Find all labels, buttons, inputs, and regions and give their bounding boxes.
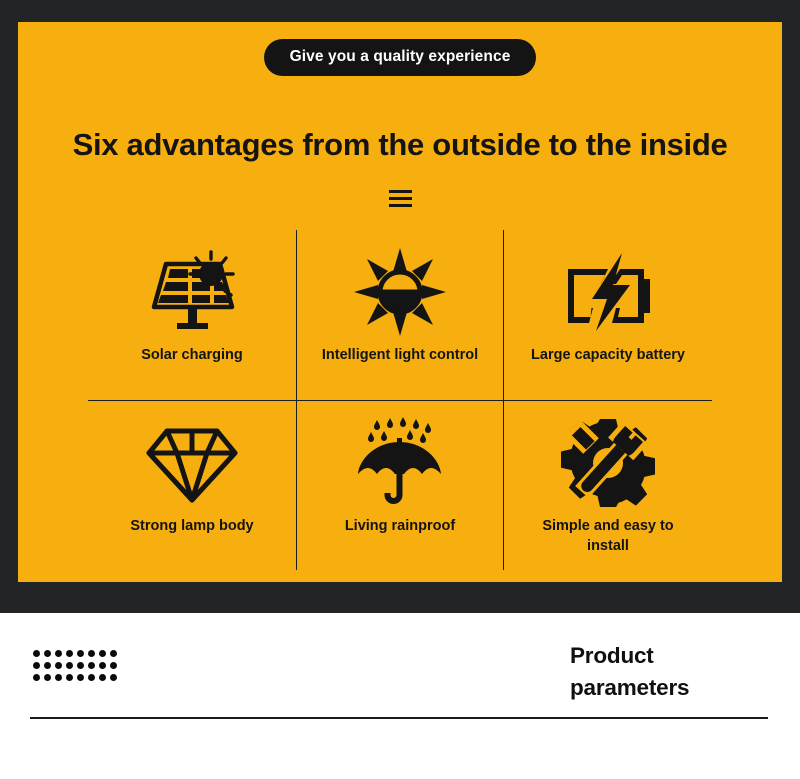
advantages-grid: Solar charging xyxy=(88,230,712,570)
page-title: Six advantages from the outside to the i… xyxy=(18,128,782,162)
dot xyxy=(44,674,51,681)
dot xyxy=(55,674,62,681)
divider-line-3 xyxy=(389,204,412,207)
advantage-label: Large capacity battery xyxy=(531,346,685,366)
page-root: Give you a quality experience Six advant… xyxy=(0,0,800,779)
dot xyxy=(88,674,95,681)
advantage-label: Solar charging xyxy=(141,346,243,366)
section-title-line-1: Product xyxy=(570,640,780,672)
dot xyxy=(33,662,40,669)
advantage-cell-battery: Large capacity battery xyxy=(504,230,712,400)
dot xyxy=(77,650,84,657)
dot xyxy=(66,650,73,657)
advantage-cell-light-control: Intelligent light control xyxy=(296,230,504,400)
battery-bolt-icon xyxy=(560,244,656,340)
dot xyxy=(55,662,62,669)
dot xyxy=(110,674,117,681)
advantage-label: Strong lamp body xyxy=(130,517,253,537)
advantage-label: Simple and easy to install xyxy=(523,517,693,556)
advantage-label: Intelligent light control xyxy=(322,346,478,366)
dot xyxy=(110,662,117,669)
dot xyxy=(66,674,73,681)
section-divider-rule xyxy=(30,717,768,719)
divider-line-1 xyxy=(389,190,412,193)
section-title-line-2: parameters xyxy=(570,672,780,704)
divider-line-2 xyxy=(389,197,412,200)
dot xyxy=(33,674,40,681)
dot xyxy=(99,674,106,681)
quality-experience-badge: Give you a quality experience xyxy=(264,39,537,76)
dot xyxy=(88,662,95,669)
dot xyxy=(77,662,84,669)
dot-grid-icon xyxy=(33,650,117,681)
dot xyxy=(99,650,106,657)
dot xyxy=(88,650,95,657)
dot xyxy=(44,662,51,669)
dot xyxy=(44,650,51,657)
sun-light-control-icon xyxy=(352,244,448,340)
section-title: Product parameters xyxy=(570,640,780,704)
dot xyxy=(55,650,62,657)
advantage-cell-easy-install: Simple and easy to install xyxy=(504,400,712,570)
diamond-icon xyxy=(145,415,239,511)
dot xyxy=(33,650,40,657)
dot xyxy=(77,674,84,681)
badge-row: Give you a quality experience xyxy=(18,39,782,76)
advantage-label: Living rainproof xyxy=(345,517,455,537)
dot xyxy=(99,662,106,669)
advantage-cell-lamp-body: Strong lamp body xyxy=(88,400,296,570)
dot xyxy=(66,662,73,669)
advantage-cell-solar-charging: Solar charging xyxy=(88,230,296,400)
gear-wrench-icon xyxy=(561,415,655,511)
solar-panel-icon xyxy=(144,244,240,340)
three-lines-icon xyxy=(18,190,782,207)
dot xyxy=(110,650,117,657)
umbrella-rain-icon xyxy=(353,415,447,511)
advantage-cell-rainproof: Living rainproof xyxy=(296,400,504,570)
feature-panel: Give you a quality experience Six advant… xyxy=(18,22,782,582)
